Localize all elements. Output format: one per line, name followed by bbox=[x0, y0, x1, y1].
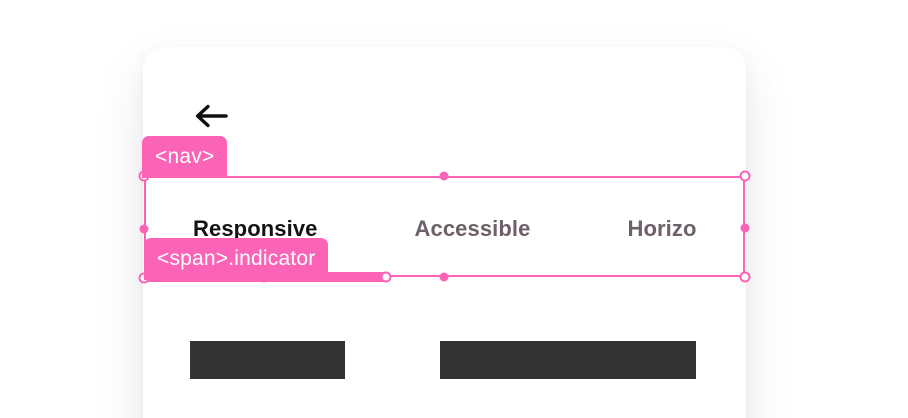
nav-tablist: Responsive Accessible Horizo bbox=[143, 177, 746, 281]
arrow-left-icon[interactable] bbox=[192, 103, 234, 129]
placeholder-bar-2 bbox=[440, 341, 696, 379]
nav-tab-horizontal[interactable]: Horizo bbox=[627, 216, 696, 242]
placeholder-bar-1 bbox=[190, 341, 345, 379]
nav-tab-accessible[interactable]: Accessible bbox=[415, 216, 531, 242]
screenshot-stage: Responsive Accessible Horizo <nav> <span… bbox=[0, 0, 908, 418]
nav-tab-responsive[interactable]: Responsive bbox=[193, 216, 318, 242]
